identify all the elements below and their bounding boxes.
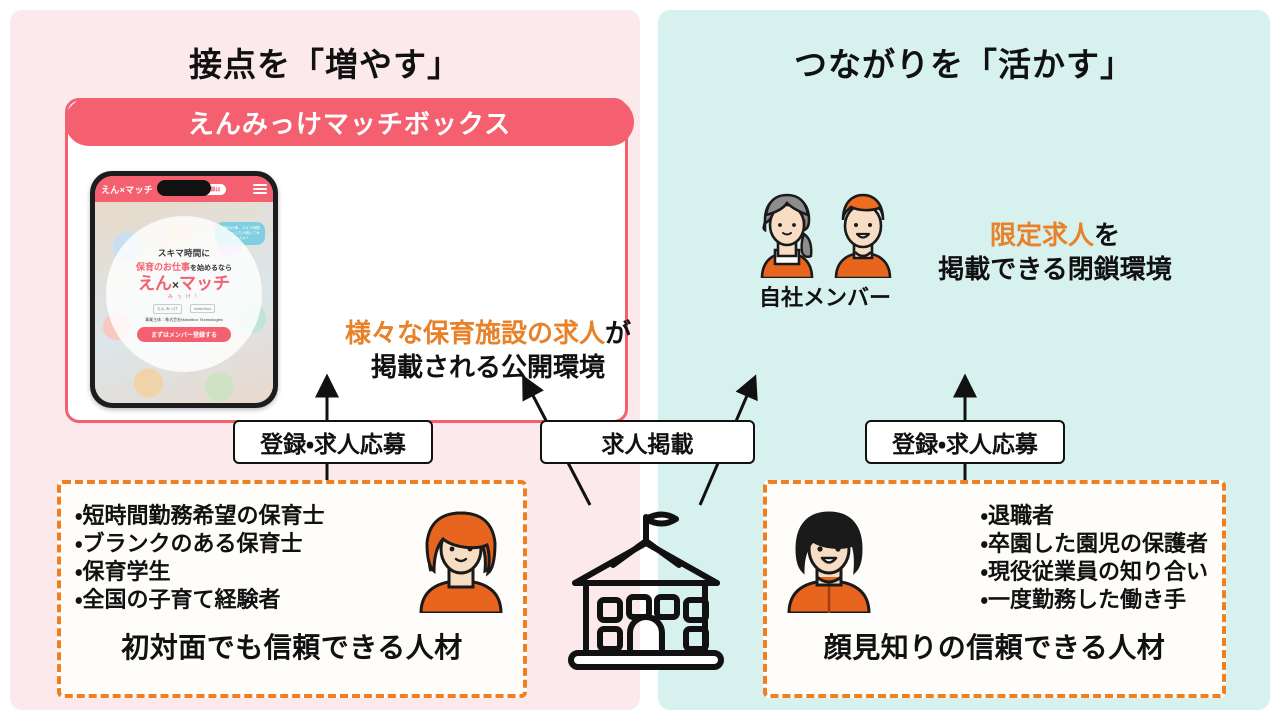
talent-left-caption: 初対面でも信頼できる人材 xyxy=(75,626,509,666)
phone-logo: えん×マッチ xyxy=(101,183,153,196)
phone-badge-right: matchbox xyxy=(190,304,215,313)
list-item: 卒園した園児の保護者 xyxy=(981,530,1209,558)
phone-brand-ruby-left: みっけ! xyxy=(168,294,200,300)
talent-right-list: 退職者 卒園した園児の保護者 現役従業員の知り合い 一度勤務した働き手 xyxy=(981,502,1209,615)
phone-notch xyxy=(157,180,211,196)
phone-cta-button[interactable]: まずはメンバー登録する xyxy=(137,327,231,342)
phone-brand-ruby: みっけ! xyxy=(168,293,200,300)
phone-brand-main: えん xyxy=(138,274,172,293)
talent-right-caption: 顔見知りの信頼できる人材 xyxy=(781,626,1208,666)
label-apply-right: 登録・求人応募 xyxy=(865,420,1065,464)
phone-screen: えん×マッチ メンバー登録は 保育の仕事、スキマ時間でちょっとだけ働いてみません… xyxy=(95,176,273,403)
left-panel-title: 接点を「増やす」 xyxy=(10,38,640,86)
right-card-description-highlight: 限定求人 xyxy=(990,220,1094,250)
left-card-description-highlight: 様々な保育施設の求人 xyxy=(345,318,605,348)
phone-badges: えん みっけ matchbox xyxy=(153,304,215,314)
own-members-avatars xyxy=(745,190,905,278)
talent-left-inner: 短時間勤務希望の保育士 ブランクのある保育士 保育学生 全国の子育て経験者 xyxy=(75,494,509,622)
phone-brand: えん×マッチ xyxy=(138,275,230,292)
list-item: 退職者 xyxy=(981,502,1209,530)
talent-left-list: 短時間勤務希望の保育士 ブランクのある保育士 保育学生 全国の子育て経験者 xyxy=(75,502,325,615)
phone-hero-line2: 保育のお仕事を始めるなら xyxy=(136,260,232,273)
list-item: ブランクのある保育士 xyxy=(75,530,325,558)
avatar-person-black-hair-icon xyxy=(781,503,877,613)
own-members-label: 自社メンバー xyxy=(745,280,905,312)
school-building-icon xyxy=(553,505,738,685)
right-card-description-tail: を xyxy=(1094,220,1120,250)
phone-brand-x: × xyxy=(172,278,179,292)
left-card-description: 様々な保育施設の求人が 掲載される公開環境 xyxy=(308,316,668,385)
phone-hero-content: スキマ時間に 保育のお仕事を始めるなら えん×マッチ みっけ! えん みっけ m… xyxy=(106,216,262,372)
list-item: 現役従業員の知り合い xyxy=(981,558,1209,586)
phone-fine-print: 事業主体：株式会社Matchbox Technologies xyxy=(145,317,223,322)
list-item: 全国の子育て経験者 xyxy=(75,586,325,614)
phone-brand-sub: マッチ xyxy=(179,274,230,293)
label-apply-left: 登録・求人応募 xyxy=(233,420,433,464)
phone-hero-line1: スキマ時間に xyxy=(158,247,210,259)
avatar-woman-ponytail-icon xyxy=(752,190,822,278)
talent-box-left: 短時間勤務希望の保育士 ブランクのある保育士 保育学生 全国の子育て経験者 初対… xyxy=(57,480,527,698)
own-members-group: 自社メンバー xyxy=(745,190,905,312)
hamburger-icon[interactable] xyxy=(253,184,267,194)
enmikke-matchbox-card: えんみっけマッチボックス えん×マッチ メンバー登録は 保育の仕事、スキマ時間で… xyxy=(65,98,628,423)
left-card-description-line2: 掲載される公開環境 xyxy=(371,352,605,382)
left-card-description-tail: が xyxy=(605,318,631,348)
right-card-description: 限定求人を 掲載できる閉鎖環境 xyxy=(900,218,1210,287)
list-item: 短時間勤務希望の保育士 xyxy=(75,502,325,530)
talent-box-right: 退職者 卒園した園児の保護者 現役従業員の知り合い 一度勤務した働き手 顔見知り… xyxy=(763,480,1226,698)
avatar-woman-orange-hair-icon xyxy=(413,503,509,613)
right-card-description-line2: 掲載できる閉鎖環境 xyxy=(938,254,1171,284)
talent-right-inner: 退職者 卒園した園児の保護者 現役従業員の知り合い 一度勤務した働き手 xyxy=(781,494,1208,622)
phone-badge-left: えん みっけ xyxy=(153,304,182,314)
label-post-job: 求人掲載 xyxy=(540,420,755,464)
phone-hero-line2-main: 保育のお仕事 xyxy=(136,262,190,272)
phone-mockup: えん×マッチ メンバー登録は 保育の仕事、スキマ時間でちょっとだけ働いてみません… xyxy=(90,171,278,408)
list-item: 一度勤務した働き手 xyxy=(981,586,1209,614)
avatar-man-orange-hair-icon xyxy=(828,190,898,278)
phone-hero-line2-tail: を始めるなら xyxy=(190,265,232,272)
enmikke-matchbox-card-header: えんみっけマッチボックス xyxy=(65,98,634,146)
list-item: 保育学生 xyxy=(75,558,325,586)
right-panel-title: つながりを「活かす」 xyxy=(658,38,1270,86)
